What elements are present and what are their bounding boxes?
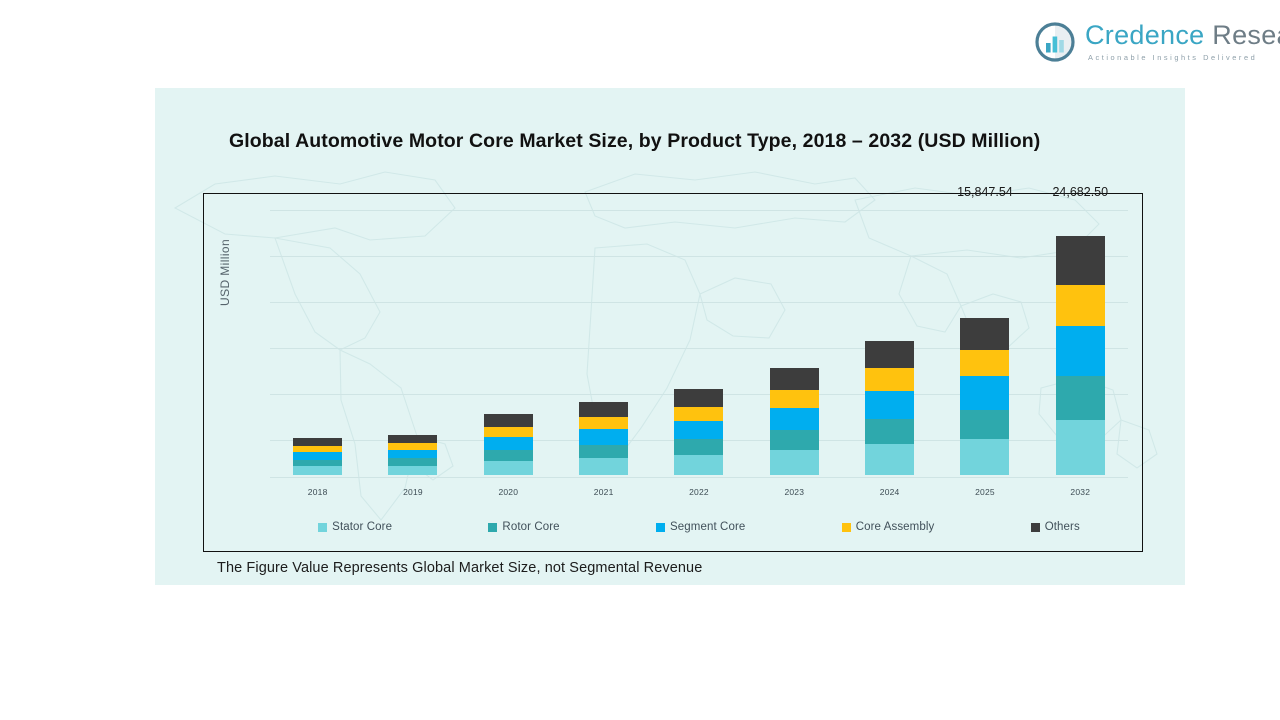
bar-segment[interactable] bbox=[388, 443, 437, 450]
bar-segment[interactable] bbox=[770, 450, 819, 475]
x-axis-tick: 2024 bbox=[842, 487, 937, 497]
bar-segment[interactable] bbox=[293, 438, 342, 446]
x-axis-tick: 2032 bbox=[1033, 487, 1128, 497]
bar-segment[interactable] bbox=[770, 430, 819, 450]
bar-stack[interactable] bbox=[293, 438, 342, 475]
bar-stack[interactable] bbox=[960, 318, 1009, 475]
bar-chart-circle-icon bbox=[1035, 22, 1075, 62]
bar-segment[interactable] bbox=[484, 450, 533, 461]
legend-swatch bbox=[488, 523, 497, 532]
bar-segment[interactable] bbox=[484, 427, 533, 437]
bar-column[interactable] bbox=[365, 204, 460, 475]
bar-column[interactable] bbox=[842, 204, 937, 475]
bar-segment[interactable] bbox=[674, 455, 723, 475]
bar-column[interactable]: 24,682.50 bbox=[1033, 204, 1128, 475]
bar-segment[interactable] bbox=[1056, 236, 1105, 285]
bar-segment[interactable] bbox=[388, 458, 437, 465]
chart-panel: Global Automotive Motor Core Market Size… bbox=[155, 88, 1185, 585]
legend-swatch bbox=[318, 523, 327, 532]
legend-label: Segment Core bbox=[670, 521, 745, 533]
bar-segment[interactable] bbox=[1056, 376, 1105, 420]
bar-segment[interactable] bbox=[579, 458, 628, 475]
x-axis-tick: 2019 bbox=[365, 487, 460, 497]
bar-segment[interactable] bbox=[770, 390, 819, 408]
chart-title: Global Automotive Motor Core Market Size… bbox=[229, 130, 1040, 153]
bar-segment[interactable] bbox=[960, 350, 1009, 377]
bar-segment[interactable] bbox=[674, 389, 723, 407]
bar-segment[interactable] bbox=[484, 437, 533, 450]
bar-segment[interactable] bbox=[293, 460, 342, 467]
bar-segment[interactable] bbox=[293, 466, 342, 475]
bar-stack[interactable] bbox=[1056, 236, 1105, 475]
bar-segment[interactable] bbox=[484, 414, 533, 426]
y-axis-label: USD Million bbox=[218, 239, 232, 306]
bar-segment[interactable] bbox=[388, 435, 437, 443]
bar-segment[interactable] bbox=[960, 318, 1009, 350]
legend-item[interactable]: Rotor Core bbox=[488, 521, 559, 533]
bar-segment[interactable] bbox=[579, 445, 628, 459]
legend-label: Core Assembly bbox=[856, 521, 935, 533]
bar-column[interactable] bbox=[556, 204, 651, 475]
chart-page: Credence Research Actionable Insights De… bbox=[0, 0, 1280, 720]
bar-column[interactable] bbox=[270, 204, 365, 475]
bar-stack[interactable] bbox=[579, 402, 628, 475]
x-axis-tick: 2023 bbox=[747, 487, 842, 497]
bar-segment[interactable] bbox=[1056, 285, 1105, 325]
bar-segment[interactable] bbox=[579, 417, 628, 429]
legend-item[interactable]: Core Assembly bbox=[842, 521, 935, 533]
bar-segment[interactable] bbox=[388, 450, 437, 458]
logo-tagline: Actionable Insights Delivered bbox=[1088, 54, 1280, 61]
bar-segment[interactable] bbox=[865, 341, 914, 368]
logo-name-primary: Credence bbox=[1085, 20, 1204, 50]
bar-segment[interactable] bbox=[960, 410, 1009, 439]
x-axis-tick: 2022 bbox=[651, 487, 746, 497]
chart-footnote: The Figure Value Represents Global Marke… bbox=[217, 560, 702, 576]
legend-label: Rotor Core bbox=[502, 521, 559, 533]
bar-stack[interactable] bbox=[865, 341, 914, 475]
bars-container: 15,847.5424,682.50 bbox=[270, 204, 1128, 475]
bar-stack[interactable] bbox=[770, 368, 819, 475]
bar-segment[interactable] bbox=[579, 402, 628, 417]
legend-swatch bbox=[1031, 523, 1040, 532]
gridline bbox=[270, 477, 1128, 478]
bar-segment[interactable] bbox=[1056, 420, 1105, 475]
bar-segment[interactable] bbox=[579, 429, 628, 444]
bar-segment[interactable] bbox=[674, 407, 723, 422]
bar-segment[interactable] bbox=[293, 452, 342, 460]
bar-column[interactable] bbox=[747, 204, 842, 475]
logo-wordmark: Credence Research Actionable Insights De… bbox=[1085, 22, 1280, 61]
bar-segment[interactable] bbox=[865, 419, 914, 444]
legend-swatch bbox=[656, 523, 665, 532]
bar-segment[interactable] bbox=[1056, 326, 1105, 376]
bar-segment[interactable] bbox=[770, 408, 819, 431]
x-axis-tick: 2021 bbox=[556, 487, 651, 497]
bar-value-label: 24,682.50 bbox=[1052, 185, 1108, 199]
plot-frame: USD Million 15,847.5424,682.50 201820192… bbox=[203, 193, 1143, 552]
bar-segment[interactable] bbox=[960, 376, 1009, 409]
legend-swatch bbox=[842, 523, 851, 532]
bar-segment[interactable] bbox=[865, 368, 914, 391]
bar-segment[interactable] bbox=[388, 466, 437, 475]
legend-item[interactable]: Stator Core bbox=[318, 521, 392, 533]
bar-stack[interactable] bbox=[388, 435, 437, 475]
bar-segment[interactable] bbox=[770, 368, 819, 390]
x-axis-tick: 2018 bbox=[270, 487, 365, 497]
logo-name-secondary: Research bbox=[1212, 20, 1280, 50]
x-axis-tick: 2025 bbox=[937, 487, 1032, 497]
bar-segment[interactable] bbox=[865, 444, 914, 475]
bar-segment[interactable] bbox=[960, 439, 1009, 475]
x-axis: 201820192020202120222023202420252032 bbox=[270, 487, 1128, 497]
bar-value-label: 15,847.54 bbox=[957, 185, 1013, 199]
x-axis-tick: 2020 bbox=[461, 487, 556, 497]
bar-stack[interactable] bbox=[674, 389, 723, 475]
bar-column[interactable] bbox=[461, 204, 556, 475]
credence-research-logo: Credence Research Actionable Insights De… bbox=[1035, 22, 1280, 62]
legend-item[interactable]: Segment Core bbox=[656, 521, 745, 533]
bar-segment[interactable] bbox=[674, 421, 723, 439]
bar-stack[interactable] bbox=[484, 414, 533, 475]
bar-segment[interactable] bbox=[674, 439, 723, 455]
legend-item[interactable]: Others bbox=[1031, 521, 1080, 533]
chart-legend: Stator CoreRotor CoreSegment CoreCore As… bbox=[270, 521, 1128, 533]
bar-segment[interactable] bbox=[484, 461, 533, 475]
bar-column[interactable]: 15,847.54 bbox=[937, 204, 1032, 475]
legend-label: Others bbox=[1045, 521, 1080, 533]
bar-column[interactable] bbox=[651, 204, 746, 475]
bar-segment[interactable] bbox=[865, 391, 914, 419]
legend-label: Stator Core bbox=[332, 521, 392, 533]
